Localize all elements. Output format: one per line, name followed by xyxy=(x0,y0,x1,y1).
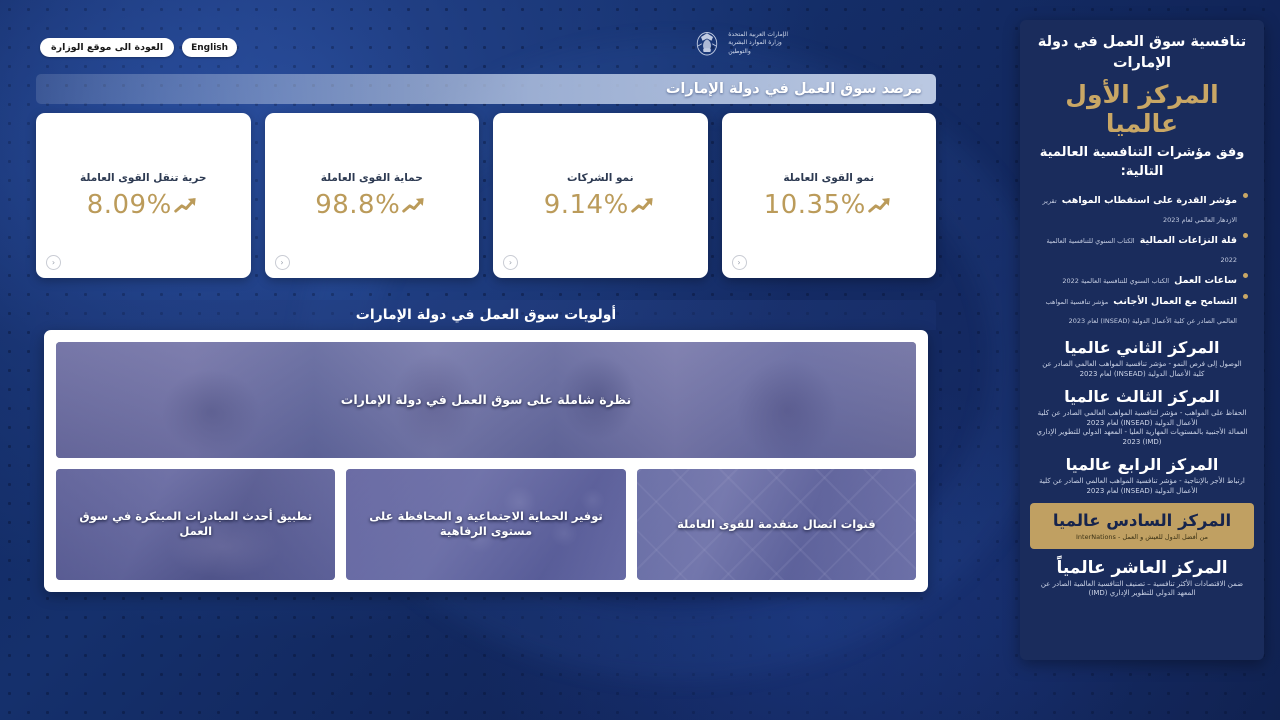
bullet-body: ساعات العمل الكتاب السنوي للتنافسية العا… xyxy=(1036,268,1237,287)
rank-title: المركز الثالث عالميا xyxy=(1036,386,1248,408)
priority-tile-communication-channels[interactable]: قنوات اتصال متقدمة للقوى العاملة xyxy=(637,469,916,580)
sidebar-title: تنافسية سوق العمل في دولة الإمارات xyxy=(1036,32,1248,74)
bullet-dot-icon xyxy=(1243,193,1248,198)
kpi-prev-button[interactable]: ‹ xyxy=(503,255,518,270)
back-to-ministry-button[interactable]: العودة الى موقع الوزارة xyxy=(40,38,174,57)
priorities-section-title-bar: أولويات سوق العمل في دولة الإمارات xyxy=(36,300,936,330)
topbar-actions: English العودة الى موقع الوزارة xyxy=(40,38,237,57)
ministry-line-2: وزارة الموارد البشرية xyxy=(728,39,781,47)
rank-title: المركز العاشر عالمياً xyxy=(1036,557,1248,579)
ministry-name-text: الإمارات العربية المتحدة وزارة الموارد ا… xyxy=(728,31,788,56)
bullet-source: الكتاب السنوي للتنافسية العالمية 2022 xyxy=(1062,277,1169,285)
kpi-card-company-growth[interactable]: نمو الشركات 9.14% ‹ xyxy=(493,113,708,278)
priority-tile-social-protection[interactable]: توفير الحماية الاجتماعية و المحافظة على … xyxy=(346,469,625,580)
trend-up-arrow-icon xyxy=(868,195,894,215)
rank-description-secondary: العمالة الأجنبية بالمستويات المهارية الع… xyxy=(1036,428,1248,447)
rank-title: المركز الرابع عالميا xyxy=(1036,454,1248,476)
tile-caption: توفير الحماية الاجتماعية و المحافظة على … xyxy=(346,509,625,539)
rank-block-tenth: المركز العاشر عالمياً ضمن الاقتصادات الأ… xyxy=(1036,557,1248,599)
ministry-logo: الإمارات العربية المتحدة وزارة الموارد ا… xyxy=(692,28,788,58)
tile-caption: قنوات اتصال متقدمة للقوى العاملة xyxy=(663,517,890,532)
bullet-dot-icon xyxy=(1243,233,1248,238)
tile-caption: تطبيق أحدث المبادرات المبتكرة في سوق الع… xyxy=(56,509,335,539)
kpi-prev-button[interactable]: ‹ xyxy=(275,255,290,270)
bullet-label: قلة النزاعات العمالية xyxy=(1140,235,1237,246)
priorities-panel: نظرة شاملة على سوق العمل في دولة الإمارا… xyxy=(44,330,928,592)
kpi-value-row: 9.14% xyxy=(544,190,657,220)
bullet-label: التسامح مع العمال الأجانب xyxy=(1113,296,1237,307)
sidebar-indicator-list: مؤشر القدرة على استقطاب المواهب تقرير ال… xyxy=(1036,188,1248,327)
list-item: قلة النزاعات العمالية الكتاب السنوي للتن… xyxy=(1036,228,1248,266)
tile-caption: نظرة شاملة على سوق العمل في دولة الإمارا… xyxy=(327,392,645,407)
dashboard-root: English العودة الى موقع الوزارة الإمارات… xyxy=(0,0,1280,720)
uae-falcon-emblem-icon xyxy=(692,28,722,58)
bullet-dot-icon xyxy=(1243,273,1248,278)
ministry-line-1: الإمارات العربية المتحدة xyxy=(728,31,788,39)
rank-description: الوصول إلى فرص النمو - مؤشر تنافسية المو… xyxy=(1036,360,1248,379)
rank-description: من أفضل الدول للعيش و العمل - InterNatio… xyxy=(1036,533,1248,543)
kpi-value-row: 8.09% xyxy=(87,190,200,220)
bullet-label: مؤشر القدرة على استقطاب المواهب xyxy=(1062,195,1237,206)
page-title-bar: مرصد سوق العمل في دولة الإمارات xyxy=(36,74,936,104)
kpi-title: نمو الشركات xyxy=(567,172,634,184)
kpi-value: 9.14% xyxy=(544,190,629,220)
rank-block-second: المركز الثاني عالميا الوصول إلى فرص النم… xyxy=(1036,337,1248,379)
priorities-section-title: أولويات سوق العمل في دولة الإمارات xyxy=(356,307,616,323)
list-item: مؤشر القدرة على استقطاب المواهب تقرير ال… xyxy=(1036,188,1248,226)
rank-description: ضمن الاقتصادات الأكثر تنافسية – تصنيف ال… xyxy=(1036,580,1248,599)
kpi-value: 10.35% xyxy=(764,190,866,220)
bullet-dot-icon xyxy=(1243,294,1248,299)
ministry-line-3: والتوطين xyxy=(728,48,750,56)
kpi-title: حماية القوى العاملة xyxy=(321,172,423,184)
rank-title: المركز الثاني عالميا xyxy=(1036,337,1248,359)
sidebar-subtitle: وفق مؤشرات التنافسية العالمية التالية: xyxy=(1036,143,1248,181)
kpi-card-row: نمو القوى العاملة 10.35% ‹ نمو الشركات 9… xyxy=(36,113,936,278)
kpi-value: 98.8% xyxy=(315,190,400,220)
kpi-prev-button[interactable]: ‹ xyxy=(732,255,747,270)
list-item: ساعات العمل الكتاب السنوي للتنافسية العا… xyxy=(1036,268,1248,287)
trend-up-arrow-icon xyxy=(174,195,200,215)
kpi-value-row: 10.35% xyxy=(764,190,894,220)
trend-up-arrow-icon xyxy=(631,195,657,215)
topbar: English العودة الى موقع الوزارة الإمارات… xyxy=(0,0,968,72)
rank-block-fourth: المركز الرابع عالميا ارتباط الأجر بالإنت… xyxy=(1036,454,1248,496)
kpi-prev-button[interactable]: ‹ xyxy=(46,255,61,270)
rank-description: الحفاظ على المواهب - مؤشر لتنافسية الموا… xyxy=(1036,409,1248,428)
bullet-body: التسامح مع العمال الأجانب مؤشر تنافسية ا… xyxy=(1036,289,1237,327)
priority-tile-overview[interactable]: نظرة شاملة على سوق العمل في دولة الإمارا… xyxy=(56,342,916,458)
kpi-value-row: 98.8% xyxy=(315,190,428,220)
rank-block-sixth-highlighted[interactable]: المركز السادس عالميا من أفضل الدول للعيش… xyxy=(1030,503,1254,549)
rank-description: ارتباط الأجر بالإنتاجية - مؤشر تنافسية ا… xyxy=(1036,477,1248,496)
rank-block-third: المركز الثالث عالميا الحفاظ على المواهب … xyxy=(1036,386,1248,447)
kpi-title: نمو القوى العاملة xyxy=(783,172,874,184)
kpi-card-labour-mobility[interactable]: حرية تنقل القوى العاملة 8.09% ‹ xyxy=(36,113,251,278)
bullet-label: ساعات العمل xyxy=(1174,275,1237,286)
competitiveness-sidebar: تنافسية سوق العمل في دولة الإمارات المرك… xyxy=(1020,20,1264,660)
kpi-card-workforce-growth[interactable]: نمو القوى العاملة 10.35% ‹ xyxy=(722,113,937,278)
priority-tile-row: قنوات اتصال متقدمة للقوى العاملة توفير ا… xyxy=(56,469,916,580)
kpi-value: 8.09% xyxy=(87,190,172,220)
kpi-title: حرية تنقل القوى العاملة xyxy=(80,172,206,184)
priority-tile-innovative-initiatives[interactable]: تطبيق أحدث المبادرات المبتكرة في سوق الع… xyxy=(56,469,335,580)
language-toggle-button[interactable]: English xyxy=(182,38,237,57)
trend-up-arrow-icon xyxy=(402,195,428,215)
kpi-card-workforce-protection[interactable]: حماية القوى العاملة 98.8% ‹ xyxy=(265,113,480,278)
page-title: مرصد سوق العمل في دولة الإمارات xyxy=(666,81,922,97)
sidebar-hero-rank: المركز الأول عالميا xyxy=(1036,80,1248,138)
bullet-body: قلة النزاعات العمالية الكتاب السنوي للتن… xyxy=(1036,228,1237,266)
list-item: التسامح مع العمال الأجانب مؤشر تنافسية ا… xyxy=(1036,289,1248,327)
bullet-body: مؤشر القدرة على استقطاب المواهب تقرير ال… xyxy=(1036,188,1237,226)
rank-title: المركز السادس عالميا xyxy=(1036,510,1248,532)
